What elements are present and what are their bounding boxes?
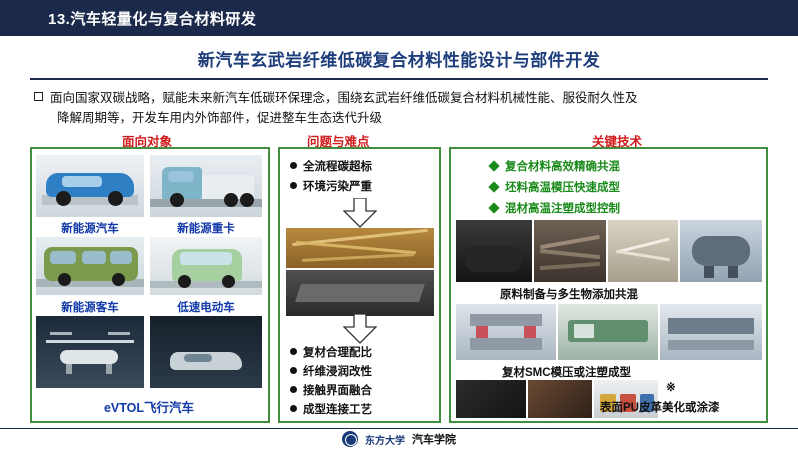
caption-raw-material-mixing: 原料制备与多生物添加共混 bbox=[500, 286, 638, 302]
caption-surface-finish-mark: ※ bbox=[666, 380, 676, 394]
image-new-energy-truck bbox=[150, 155, 262, 217]
tech-item-1-label: 坯料高温模压快速成型 bbox=[505, 182, 620, 194]
problem-item-1: 环境污染严重 bbox=[290, 178, 372, 194]
caption-new-energy-bus: 新能源客车 bbox=[36, 299, 144, 315]
diamond-bullet-icon bbox=[488, 202, 499, 213]
header-bar: 13.汽车轻量化与复合材料研发 bbox=[0, 0, 798, 36]
image-basalt-rods bbox=[534, 220, 606, 282]
title-divider bbox=[30, 78, 768, 80]
subtitle: 新汽车玄武岩纤维低碳复合材料性能设计与部件开发 bbox=[198, 46, 601, 71]
image-low-speed-ev bbox=[150, 237, 262, 295]
bullet-dot-icon bbox=[290, 182, 297, 189]
problem-item-1-label: 环境污染严重 bbox=[303, 181, 372, 193]
intro-paragraph: 面向国家双碳战略，赋能未来新汽车低碳环保理念，围绕玄武岩纤维低碳复合材料机械性能… bbox=[34, 88, 768, 128]
image-evtol-right bbox=[150, 316, 262, 388]
page-title: 13.汽车轻量化与复合材料研发 bbox=[48, 8, 256, 29]
solution-item-3: 成型连接工艺 bbox=[290, 401, 372, 417]
solution-item-0: 复材合理配比 bbox=[290, 344, 372, 360]
solution-item-3-label: 成型连接工艺 bbox=[303, 404, 372, 416]
bullet-dot-icon bbox=[290, 348, 297, 355]
arrow-down-icon-1 bbox=[343, 198, 377, 228]
footer-college: 汽车学院 bbox=[412, 431, 456, 447]
solution-item-2-label: 接触界面融合 bbox=[303, 385, 372, 397]
image-mixer-equipment bbox=[680, 220, 762, 282]
footer-university: 东方大学 bbox=[365, 432, 405, 447]
caption-new-energy-car: 新能源汽车 bbox=[36, 220, 144, 236]
bullet-dot-icon bbox=[290, 386, 297, 393]
diamond-bullet-icon bbox=[488, 181, 499, 192]
solution-item-1-label: 纤维浸润改性 bbox=[303, 366, 372, 378]
tech-item-0-label: 复合材料高效精确共混 bbox=[505, 161, 620, 173]
image-injection-machine bbox=[558, 304, 658, 360]
caption-low-speed-ev: 低速电动车 bbox=[150, 299, 262, 315]
image-straw-fiber bbox=[286, 228, 434, 268]
problem-item-0: 全流程碳超标 bbox=[290, 158, 372, 174]
header-accent bbox=[0, 0, 18, 36]
footer: 东方大学 汽车学院 bbox=[0, 429, 798, 449]
caption-smc-molding: 复材SMC模压或注塑成型 bbox=[502, 364, 631, 380]
caption-surface-finish: 表面PU皮革美化或涂漆 bbox=[600, 399, 719, 415]
subtitle-container: 新汽车玄武岩纤维低碳复合材料性能设计与部件开发 bbox=[0, 40, 798, 76]
intro-line-1: 面向国家双碳战略，赋能未来新汽车低碳环保理念，围绕玄武岩纤维低碳复合材料机械性能… bbox=[50, 91, 638, 105]
image-chopped-fiber bbox=[608, 220, 678, 282]
square-bullet-icon bbox=[34, 92, 43, 101]
solution-item-1: 纤维浸润改性 bbox=[290, 363, 372, 379]
caption-new-energy-truck: 新能源重卡 bbox=[150, 220, 262, 236]
image-new-energy-car bbox=[36, 155, 144, 217]
arrow-down-icon-2 bbox=[343, 314, 377, 344]
bullet-dot-icon bbox=[290, 367, 297, 374]
tech-item-2: 混材高温注塑成型控制 bbox=[490, 200, 620, 216]
university-logo-icon bbox=[342, 431, 358, 447]
image-press-machine bbox=[456, 304, 556, 360]
problem-item-0-label: 全流程碳超标 bbox=[303, 161, 372, 173]
image-evtol-left bbox=[36, 316, 144, 388]
image-new-energy-bus bbox=[36, 237, 144, 295]
tech-item-2-label: 混材高温注塑成型控制 bbox=[505, 203, 620, 215]
bullet-dot-icon bbox=[290, 405, 297, 412]
image-leather-swatch-dark bbox=[456, 380, 526, 418]
image-composite-sheet bbox=[286, 270, 434, 316]
diamond-bullet-icon bbox=[488, 160, 499, 171]
tech-item-0: 复合材料高效精确共混 bbox=[490, 158, 620, 174]
intro-line-2: 降解周期等，开发车用内外饰部件，促进整车生态迭代升级 bbox=[57, 108, 768, 128]
bullet-dot-icon bbox=[290, 162, 297, 169]
solution-item-0-label: 复材合理配比 bbox=[303, 347, 372, 359]
caption-evtol: eVTOL飞行汽车 bbox=[36, 397, 262, 416]
solution-item-2: 接触界面融合 bbox=[290, 382, 372, 398]
image-leather-swatch-brown bbox=[528, 380, 592, 418]
image-molding-line bbox=[660, 304, 762, 360]
tech-item-1: 坯料高温模压快速成型 bbox=[490, 179, 620, 195]
image-black-granules bbox=[456, 220, 532, 282]
